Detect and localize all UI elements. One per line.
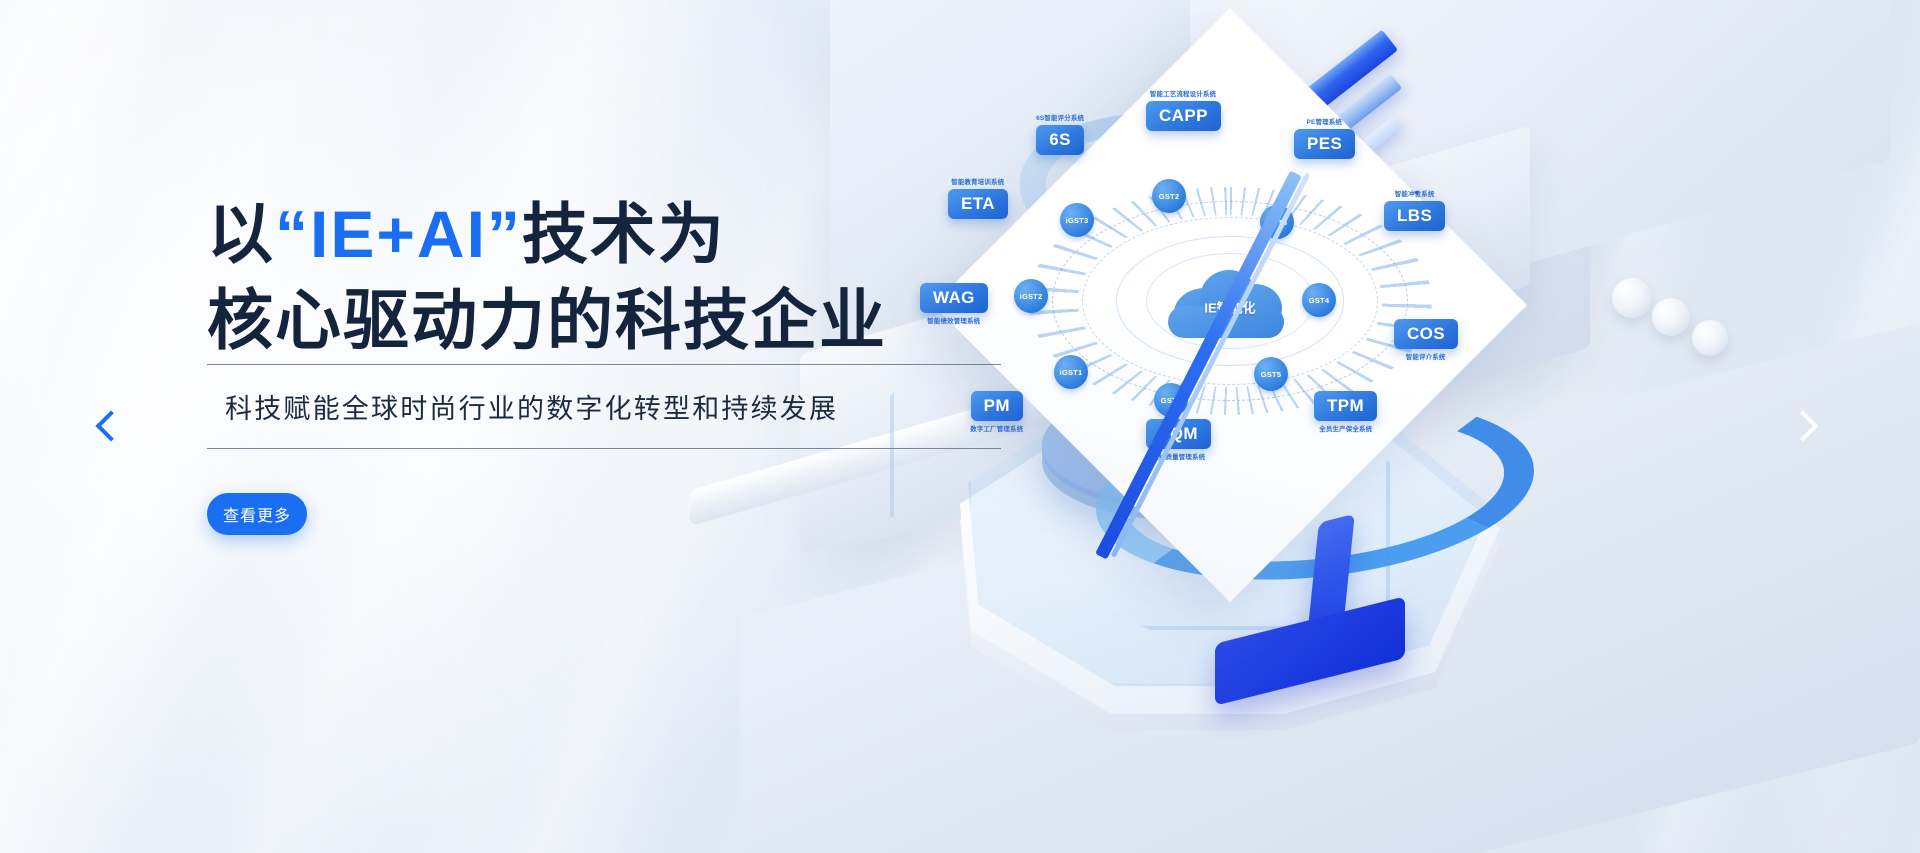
module-code-capp: CAPP <box>1146 101 1221 131</box>
headline-prefix: 以 <box>207 197 275 271</box>
chevron-right-icon <box>1787 410 1818 441</box>
module-code-tpm: TPM <box>1314 391 1377 421</box>
module-caption-pes: PE管理系统 <box>1307 117 1342 126</box>
view-more-button[interactable]: 查看更多 <box>207 493 307 535</box>
module-tag-cos: 智能评介系统 COS <box>1394 319 1458 362</box>
module-caption-tpm: 全员生产保全系统 <box>1319 424 1372 433</box>
module-code-6s: 6S <box>1036 125 1084 155</box>
carousel-next-button[interactable] <box>1786 404 1832 450</box>
hero-copy: 以“IE+AI”技术为 核心驱动力的科技企业 科技赋能全球时尚行业的数字化转型和… <box>207 192 1067 535</box>
node-gst2: GST2 <box>1152 179 1186 213</box>
headline-line-2: 核心驱动力的科技企业 <box>207 278 1067 364</box>
module-caption-eta: 智能教育培训系统 <box>951 177 1004 186</box>
headline-line-1: 以“IE+AI”技术为 <box>207 192 1067 278</box>
module-code-lbs: LBS <box>1384 201 1445 231</box>
module-code-pes: PES <box>1294 129 1355 159</box>
module-code-cos: COS <box>1394 319 1458 349</box>
module-tag-tpm: 全员生产保全系统 TPM <box>1314 391 1377 434</box>
headline-quote-open: “ <box>275 197 310 271</box>
module-tag-6s: 6S智能评分系统 6S <box>1034 113 1086 155</box>
module-tag-pes: PE管理系统 PES <box>1294 117 1355 159</box>
sphere-3 <box>1692 320 1728 356</box>
headline-highlight: IE+AI <box>310 197 487 271</box>
chevron-left-icon <box>95 410 126 441</box>
headline-quote-close: ” <box>487 197 522 271</box>
hero-banner: IE智能化 iGST3 GST2 GST3 GST4 GST5 GST6 iGS… <box>0 0 1920 853</box>
carousel-prev-button[interactable] <box>88 404 134 450</box>
headline-suffix: 技术为 <box>522 197 726 271</box>
subtitle-rule-bottom <box>207 448 1001 449</box>
page-title: 以“IE+AI”技术为 核心驱动力的科技企业 <box>207 192 1067 364</box>
module-caption-cos: 智能评介系统 <box>1406 352 1446 361</box>
subtitle-rule-top <box>207 364 1001 365</box>
module-tag-lbs: 智能冲位系统 LBS <box>1384 189 1445 231</box>
hero-subtitle: 科技赋能全球时尚行业的数字化转型和持续发展 <box>207 365 1067 448</box>
module-caption-capp: 智能工艺流程设计系统 <box>1150 89 1216 98</box>
module-caption-lbs: 智能冲位系统 <box>1395 189 1435 198</box>
sphere-2 <box>1652 298 1690 336</box>
sphere-1 <box>1612 278 1652 318</box>
module-tag-capp: 智能工艺流程设计系统 CAPP <box>1146 89 1221 131</box>
module-caption-6s: 6S智能评分系统 <box>1036 113 1084 122</box>
node-gst4: GST4 <box>1302 283 1336 317</box>
node-gst5: GST5 <box>1254 357 1288 391</box>
